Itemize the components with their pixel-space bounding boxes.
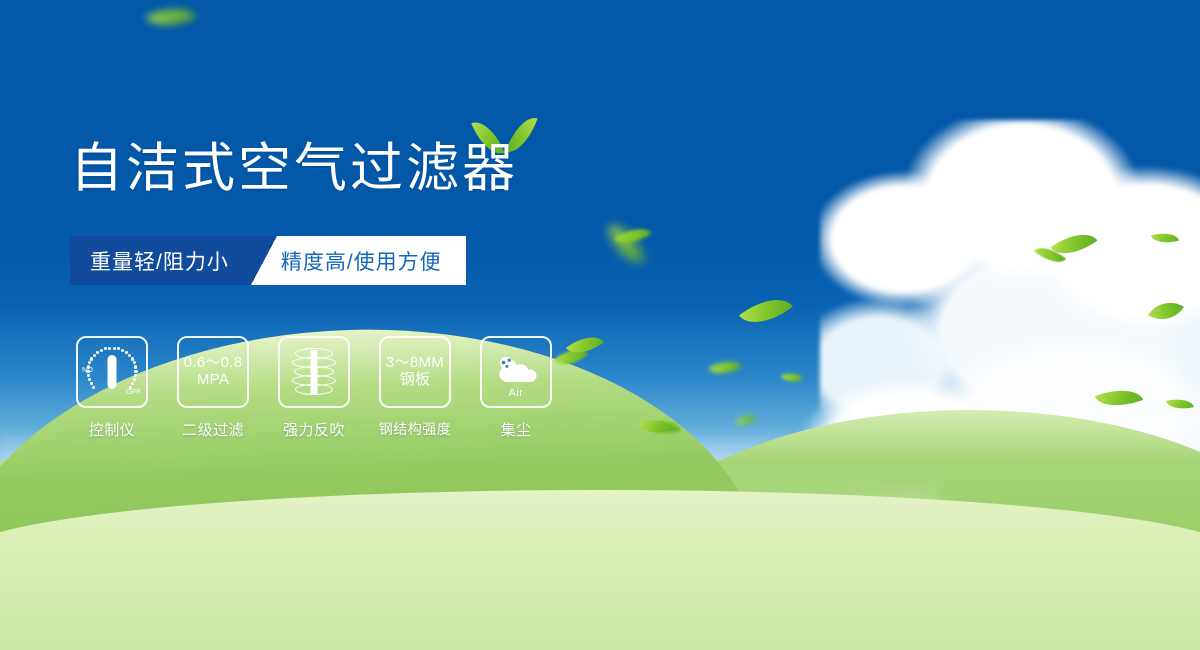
feature-item-steel[interactable]: 3～8MM 钢板 钢结构强度 <box>379 336 451 440</box>
feature-item-control[interactable]: NO OFF 控制仪 <box>76 336 148 440</box>
dial-dot <box>131 382 134 385</box>
cloud-air-icon: Air <box>487 348 545 396</box>
grass-foreground <box>0 490 1200 650</box>
dial-dot <box>92 386 95 389</box>
leaf-decoration <box>1148 293 1184 329</box>
feature-label: 集尘 <box>500 419 531 440</box>
leaf-decoration <box>566 328 604 363</box>
feature-item-dust[interactable]: Air 集尘 <box>480 336 552 440</box>
feature-item-filtration[interactable]: 0.6～0.8 MPA 二级过滤 <box>177 336 249 440</box>
dial-off-label: OFF <box>126 389 141 396</box>
dial-dot <box>88 378 91 381</box>
dial-indicator-bar <box>108 355 117 389</box>
leaf-decoration <box>708 354 742 381</box>
pressure-text-icon: 0.6～0.8 MPA <box>184 355 243 389</box>
feature-label: 钢结构强度 <box>379 419 452 439</box>
cloud-air-icon-shape <box>487 348 545 392</box>
steel-line-1: 3～8MM <box>386 355 444 372</box>
feature-icon-box: 3～8MM 钢板 <box>379 336 451 408</box>
dial-dot <box>96 351 99 354</box>
dial-dot <box>113 347 116 350</box>
feature-icon-box: NO OFF <box>76 336 148 408</box>
leaf-decoration <box>1034 240 1066 270</box>
dial-dot <box>90 382 93 385</box>
dial-dot <box>88 361 91 364</box>
dial-dot <box>87 374 90 377</box>
leaf-decoration <box>1151 229 1179 247</box>
dial-switch-icon: NO OFF <box>82 342 142 402</box>
leaf-decoration <box>1095 381 1143 415</box>
steel-line-2: 钢板 <box>386 372 444 389</box>
coil-ring <box>295 384 333 395</box>
page-title: 自洁式空气过滤器 <box>70 142 518 195</box>
subtitle-left: 重量轻/阻力小 <box>70 236 251 285</box>
dial-dot <box>133 361 136 364</box>
feature-icon-box: Air <box>480 336 552 408</box>
dial-dot <box>104 347 107 350</box>
feature-icon-box: 0.6～0.8 MPA <box>177 336 249 408</box>
dial-dot <box>121 349 124 352</box>
subtitle-bar: 重量轻/阻力小 精度高/使用方便 <box>70 236 466 285</box>
feature-list: NO OFF 控制仪 0.6～0.8 MPA 二级过滤 <box>76 336 552 440</box>
dial-dot <box>93 354 96 357</box>
feature-label: 强力反吹 <box>283 419 345 440</box>
pressure-line-1: 0.6～0.8 <box>184 355 243 372</box>
leaf-decoration <box>739 286 793 336</box>
leaf-decoration <box>1166 395 1194 412</box>
leaf-decoration <box>146 0 197 36</box>
dial-dot <box>90 357 93 360</box>
feature-label: 二级过滤 <box>182 419 244 440</box>
coil-filter-icon <box>291 346 337 398</box>
feature-label: 控制仪 <box>89 419 136 440</box>
leaf-decoration <box>1051 223 1098 265</box>
feature-item-blowback[interactable]: 强力反吹 <box>278 336 350 440</box>
leaf-decoration <box>614 220 651 252</box>
promo-banner: 自洁式空气过滤器 重量轻/阻力小 精度高/使用方便 NO OFF 控制仪 <box>0 0 1200 650</box>
pressure-line-2: MPA <box>184 372 243 389</box>
cloud-right-upper <box>820 120 1200 460</box>
dial-dot <box>134 370 137 373</box>
dial-dot <box>134 374 137 377</box>
subtitle-right: 精度高/使用方便 <box>277 236 466 285</box>
feature-icon-box <box>278 336 350 408</box>
dial-dot <box>131 357 134 360</box>
dial-dot <box>117 347 120 350</box>
steel-plate-text-icon: 3～8MM 钢板 <box>386 355 444 389</box>
dial-dot <box>134 365 137 368</box>
leaf-decoration <box>781 369 803 386</box>
dial-dot <box>133 378 136 381</box>
cloud-air-label: Air <box>487 387 545 399</box>
dial-on-label: NO <box>82 367 93 374</box>
subtitle-slant-divider <box>251 236 277 285</box>
leaf-decoration <box>607 219 645 268</box>
dial-dot <box>100 349 103 352</box>
dial-dot <box>108 347 111 350</box>
leaf-decoration <box>735 409 758 431</box>
